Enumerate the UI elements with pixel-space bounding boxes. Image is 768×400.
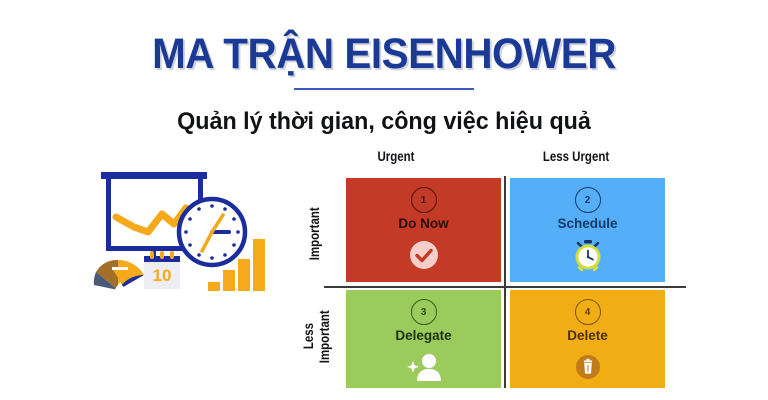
quadrant-number-3: 3: [411, 299, 437, 325]
matrix-horizontal-divider: [324, 286, 686, 288]
page-subtitle: Quản lý thời gian, công việc hiệu quả: [12, 108, 757, 136]
quadrant-delete[interactable]: 4 Delete: [510, 290, 665, 388]
quadrant-label-delete: Delete: [510, 328, 665, 343]
quadrant-number-2: 2: [575, 187, 601, 213]
quadrant-number-4: 4: [575, 299, 601, 325]
time-management-illustration: 10: [82, 160, 272, 295]
quadrant-label-do-now: Do Now: [346, 216, 501, 231]
svg-text:10: 10: [153, 266, 172, 285]
trash-can-icon: [569, 348, 607, 386]
quadrant-label-delegate: Delegate: [346, 328, 501, 343]
alarm-clock-icon: [569, 236, 607, 274]
header: MA TRẬN EISENHOWER Quản lý thời gian, cô…: [0, 0, 768, 150]
page-title: MA TRẬN EISENHOWER: [23, 30, 745, 79]
quadrant-delegate[interactable]: 3 Delegate: [346, 290, 501, 388]
calendar: 10: [144, 251, 180, 289]
row-header-important: Important: [306, 198, 322, 270]
quadrant-label-schedule: Schedule: [510, 216, 665, 231]
column-header-less-urgent: Less Urgent: [505, 148, 646, 164]
matrix-vertical-divider: [504, 176, 506, 388]
eisenhower-matrix: Urgent Less Urgent Important Less Import…: [298, 148, 678, 388]
add-person-icon: [405, 348, 443, 386]
wall-clock: [179, 199, 245, 265]
column-header-urgent: Urgent: [330, 148, 461, 164]
row-header-less-important-line1: Less: [300, 306, 316, 365]
title-underline-rule: [294, 88, 474, 90]
check-circle-icon: [405, 236, 443, 274]
quadrant-schedule[interactable]: 2 Schedule: [510, 178, 665, 282]
row-header-less-important-line2: Important: [316, 301, 332, 373]
quadrant-do-now[interactable]: 1 Do Now: [346, 178, 501, 282]
quadrant-number-1: 1: [411, 187, 437, 213]
